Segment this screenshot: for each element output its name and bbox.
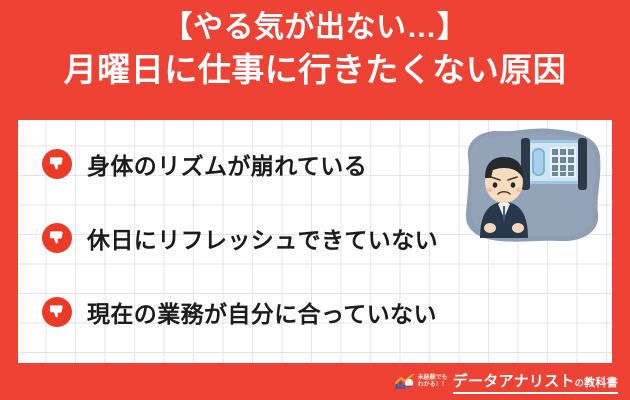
brand-name-main: データアナリスト	[453, 370, 575, 391]
brand-tagline: 未経験でも わかる！！	[418, 375, 448, 388]
thumbs-down-icon	[42, 223, 72, 253]
reason-list: 身体のリズムが崩れている 休日にリフレッシュできていない	[18, 120, 612, 363]
list-item: 現在の業務が自分に合っていない	[42, 289, 612, 335]
thumbs-down-icon	[42, 297, 72, 327]
brand-name-tail: 教科書	[584, 374, 618, 390]
footer: 未経験でも わかる！！ データアナリスト の 教科書	[0, 363, 630, 400]
page-title-line-2: 月曜日に仕事に行きたくない原因	[64, 49, 567, 92]
list-item: 休日にリフレッシュできていない	[42, 215, 612, 261]
brand-logo: 未経験でも わかる！！ データアナリスト の 教科書	[395, 370, 618, 394]
brand-badge: 未経験でも わかる！！	[395, 374, 448, 390]
slide-root: 【やる気が出ない…】 月曜日に仕事に行きたくない原因	[0, 0, 630, 400]
content-card: 身体のリズムが崩れている 休日にリフレッシュできていない	[18, 120, 612, 363]
list-item-label: 現在の業務が自分に合っていない	[87, 295, 437, 329]
brand-tagline-line-2: わかる！！	[418, 382, 448, 388]
brand-name-particle: の	[575, 376, 584, 389]
page-title-line-1: 【やる気が出ない…】	[163, 9, 468, 47]
header: 【やる気が出ない…】 月曜日に仕事に行きたくない原因	[0, 0, 630, 118]
brand-name: データアナリスト の 教科書	[453, 370, 618, 394]
list-item-label: 身体のリズムが崩れている	[87, 147, 367, 181]
thumbs-down-icon	[42, 149, 72, 179]
list-item-label: 休日にリフレッシュできていない	[87, 221, 438, 255]
chart-logo-icon	[395, 374, 415, 390]
list-item: 身体のリズムが崩れている	[42, 141, 612, 187]
